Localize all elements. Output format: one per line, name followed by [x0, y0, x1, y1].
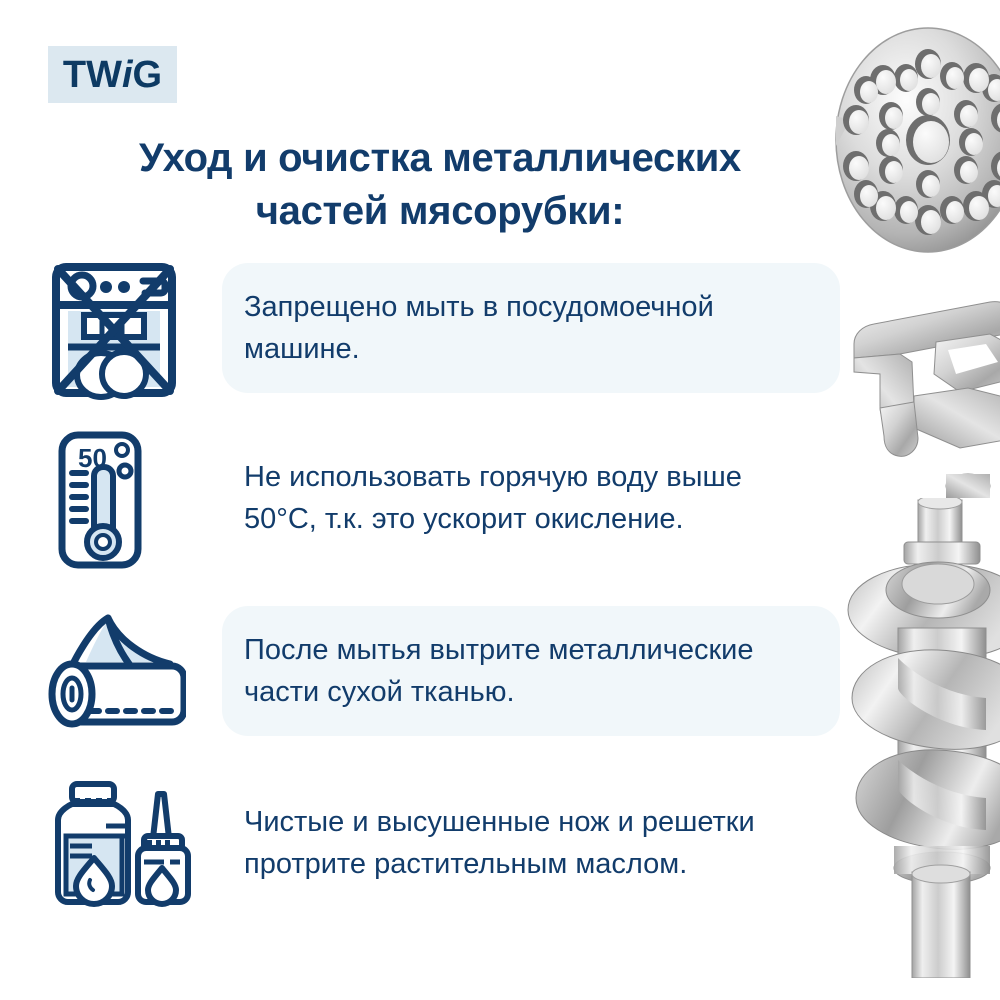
logo-text-italic-i: i	[122, 54, 133, 96]
logo-text-part2: G	[133, 54, 163, 96]
brand-logo: TWiG	[48, 46, 177, 103]
list-item-text: Не использовать горячую воду выше 50°C, …	[244, 456, 818, 540]
thermometer-50-icon: 50	[46, 425, 201, 575]
logo-text-part1: TW	[63, 54, 122, 96]
page-title: Уход и очистка металлических частей мясо…	[40, 132, 840, 238]
list-item: Запрещено мыть в посудомоечной машине.	[0, 255, 860, 405]
list-item-card: Не использовать горячую воду выше 50°C, …	[222, 433, 840, 563]
list-item-card: После мытья вытрите металлические части …	[222, 606, 840, 736]
page-title-line-2: частей мясорубки:	[40, 185, 840, 238]
rolled-cloth-icon	[46, 598, 201, 748]
page-title-line-1: Уход и очистка металлических	[40, 132, 840, 185]
list-item-card: Запрещено мыть в посудомоечной машине.	[222, 263, 840, 393]
oil-bottles-icon	[46, 770, 201, 920]
grinder-auger-photo	[842, 498, 1000, 978]
grinder-knife-photo	[840, 288, 1000, 498]
list-item-card: Чистые и высушенные нож и решетки протри…	[222, 778, 840, 908]
list-item: 50 Не использовать горячую воду выше 50°…	[0, 425, 860, 575]
list-item: Чистые и высушенные нож и решетки протри…	[0, 770, 860, 920]
grinder-plate-photo	[828, 18, 1000, 263]
list-item-text: Чистые и высушенные нож и решетки протри…	[244, 801, 818, 885]
list-item-text: Запрещено мыть в посудомоечной машине.	[244, 286, 818, 370]
no-dishwasher-icon	[46, 255, 201, 405]
infographic-page: TWiG Уход и очистка металлических частей…	[0, 0, 1000, 1000]
brand-logo-text: TWiG	[63, 56, 162, 94]
list-item: После мытья вытрите металлические части …	[0, 598, 860, 748]
list-item-text: После мытья вытрите металлические части …	[244, 629, 818, 713]
